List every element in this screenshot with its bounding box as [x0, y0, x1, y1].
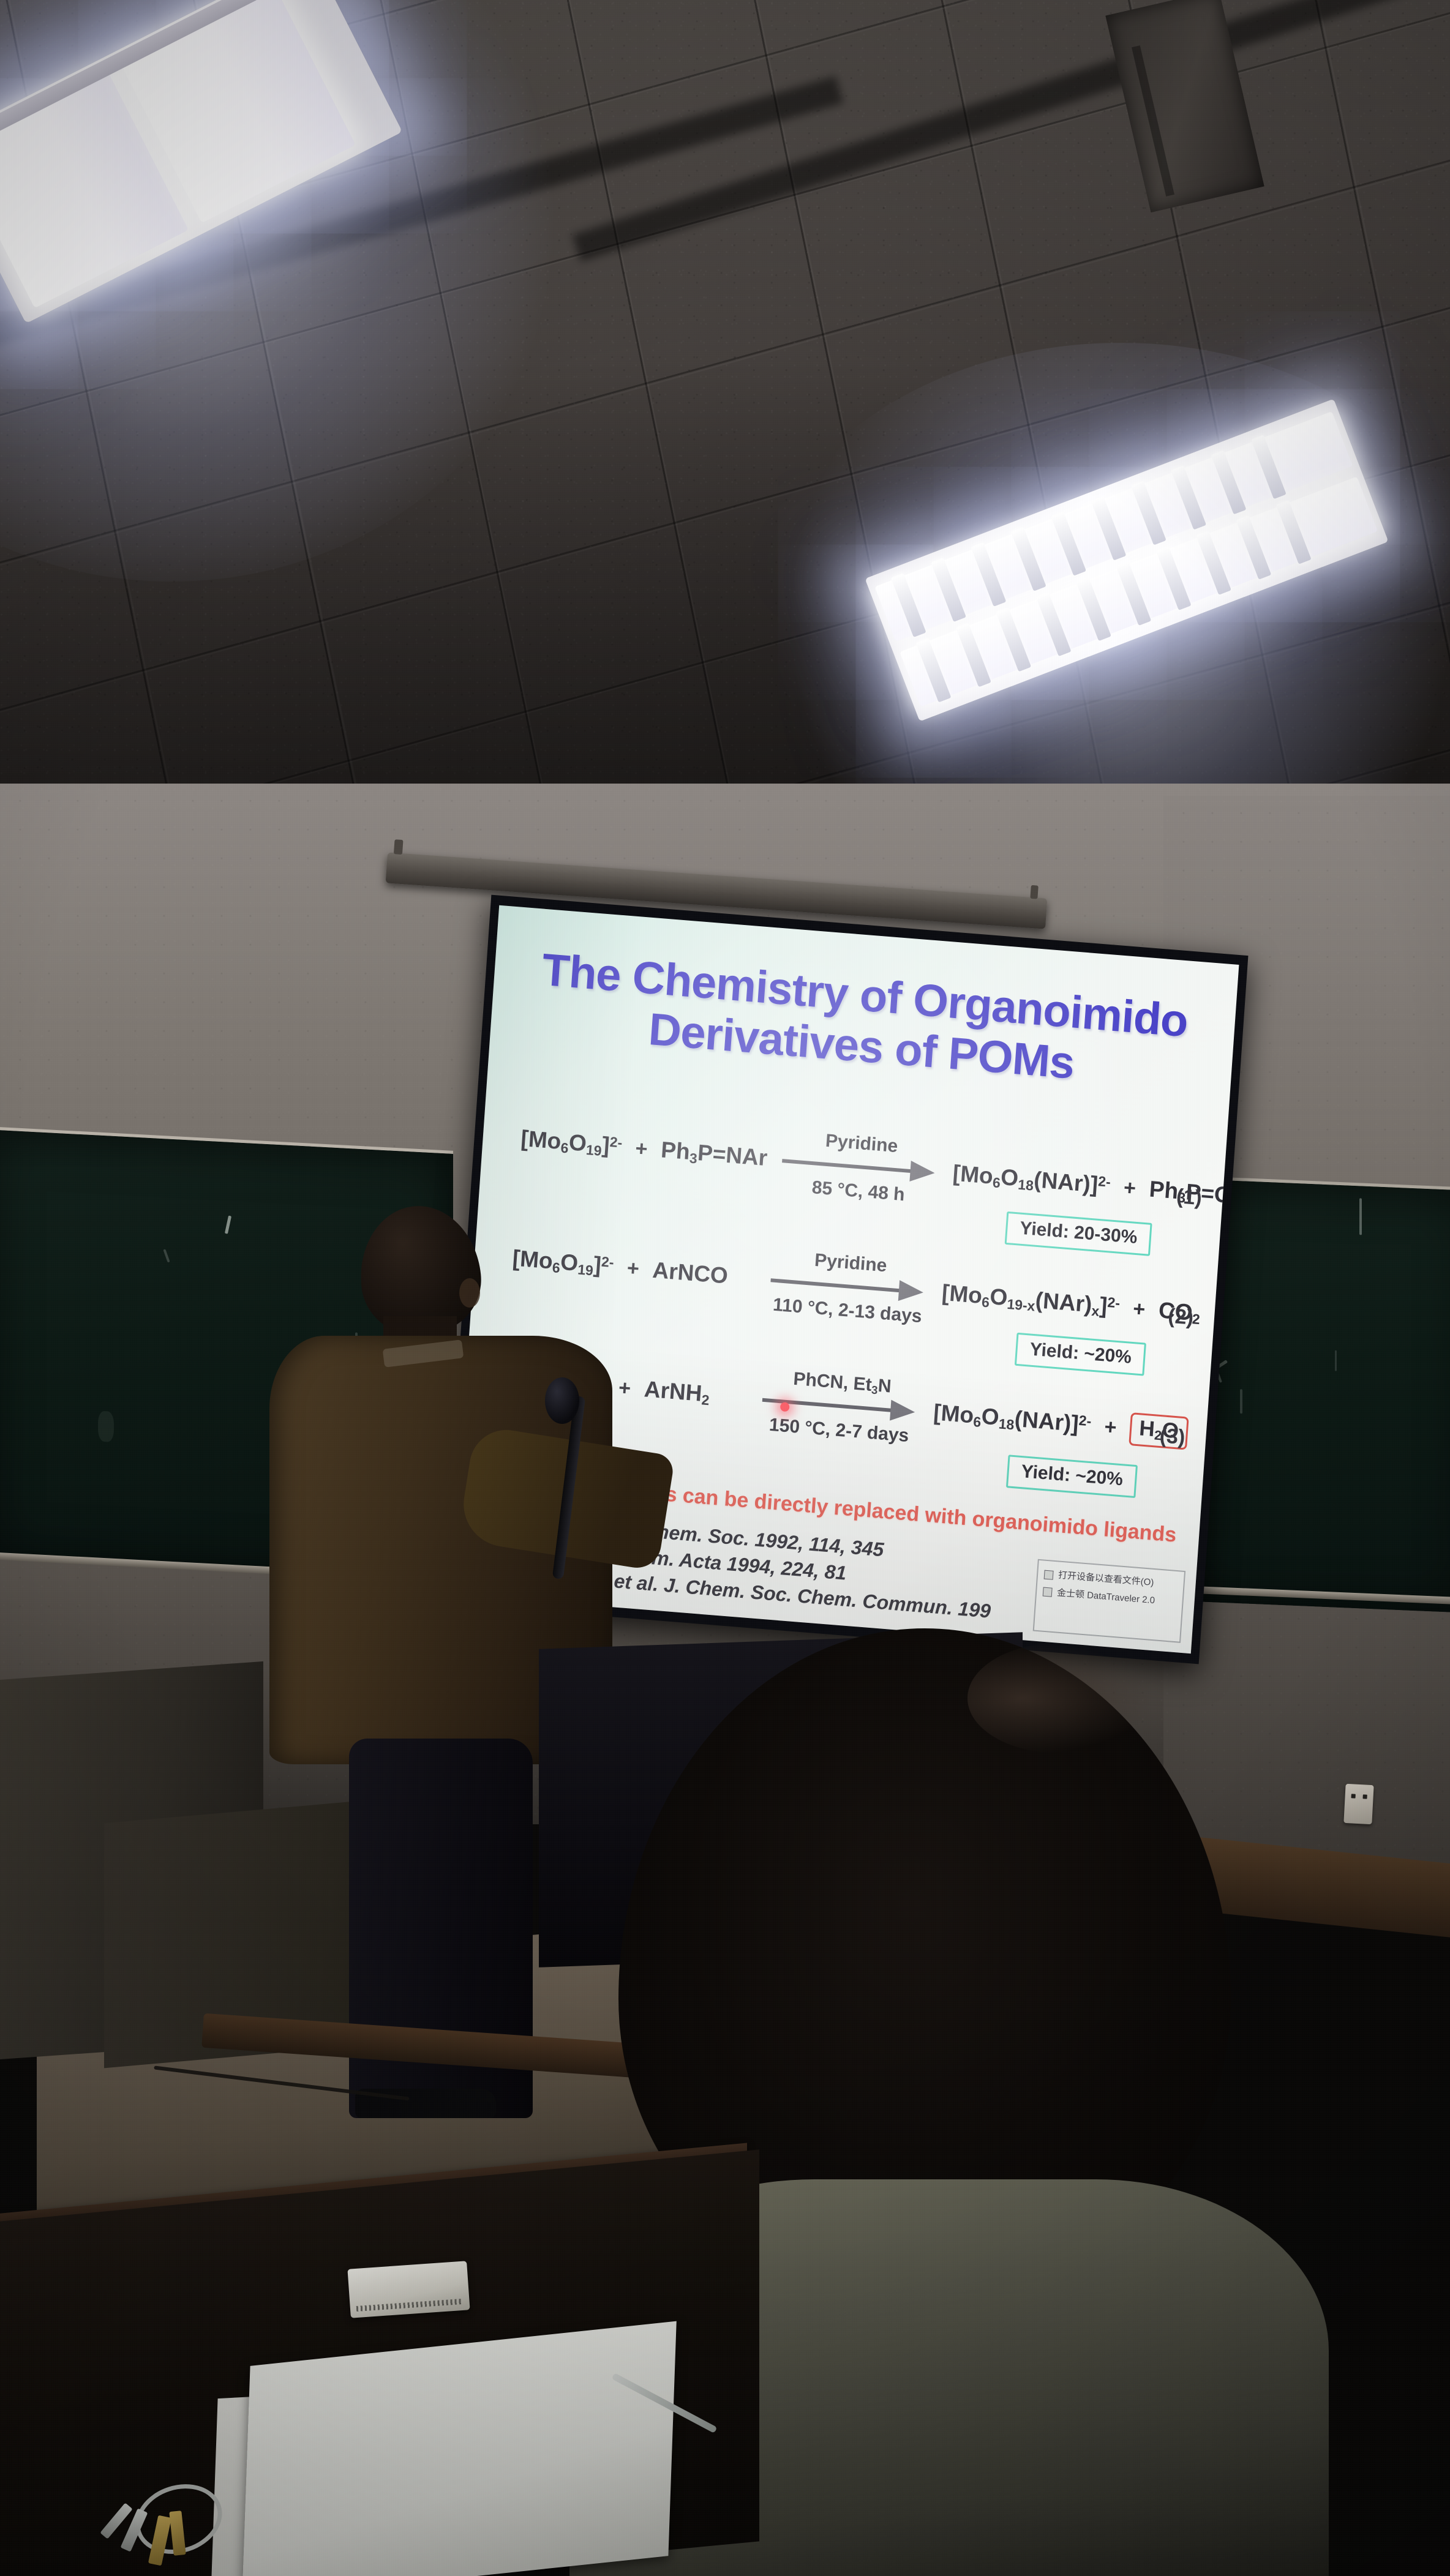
- eq1-plus-2: +: [1121, 1175, 1139, 1200]
- eq1-plus-1: +: [632, 1136, 650, 1161]
- eq3-yield-badge: Yield: ~20%: [1006, 1455, 1138, 1498]
- papers-stack: [242, 2321, 677, 2576]
- eq1-arrow: Pyridine 85 °C, 48 h: [776, 1131, 944, 1202]
- slide-title: The Chemistry of Organoimido Derivatives…: [490, 941, 1237, 1102]
- eq1-product-1: [Mo6O18(NAr)]2-: [952, 1160, 1111, 1200]
- eq2-product-1: [Mo6O19-x(NAr)x]2-: [941, 1280, 1121, 1322]
- eq3-number: (3): [1159, 1424, 1186, 1450]
- eq1-reactant-2: Ph3P=NAr: [660, 1137, 768, 1172]
- eq2-arrow: Pyridine 110 °C, 2-13 days: [765, 1250, 933, 1322]
- eq2-number: (2): [1167, 1305, 1194, 1330]
- key-ring: [80, 2479, 245, 2571]
- eq3-plus-2: +: [1101, 1415, 1119, 1440]
- wall-outlet: [1343, 1784, 1373, 1824]
- eq1-reactant-1: [Mo6O19]2-: [520, 1126, 623, 1161]
- usb-drive-icon: [1043, 1587, 1053, 1597]
- folder-icon: [1044, 1570, 1054, 1579]
- eq1-number: (1): [1176, 1185, 1203, 1210]
- eq2-plus-2: +: [1130, 1297, 1148, 1322]
- eq3-reactant-2: ArNH2: [643, 1376, 749, 1412]
- eq1-yield-badge: Yield: 20-30%: [1005, 1211, 1152, 1256]
- eraser: [347, 2261, 470, 2318]
- microphone-head: [545, 1377, 579, 1424]
- presenter-ear: [459, 1278, 480, 1308]
- eq2-yield-badge: Yield: ~20%: [1015, 1333, 1147, 1376]
- eq2-reactant-2: ArNCO: [652, 1257, 757, 1292]
- audience-hair-strands: [967, 1643, 1151, 1753]
- eq3-product-1: [Mo6O18(NAr)]2-: [933, 1399, 1092, 1439]
- eq1-condition-top: Pyridine: [779, 1127, 944, 1161]
- lecture-hall-photo: The Chemistry of Organoimido Derivatives…: [0, 0, 1450, 2576]
